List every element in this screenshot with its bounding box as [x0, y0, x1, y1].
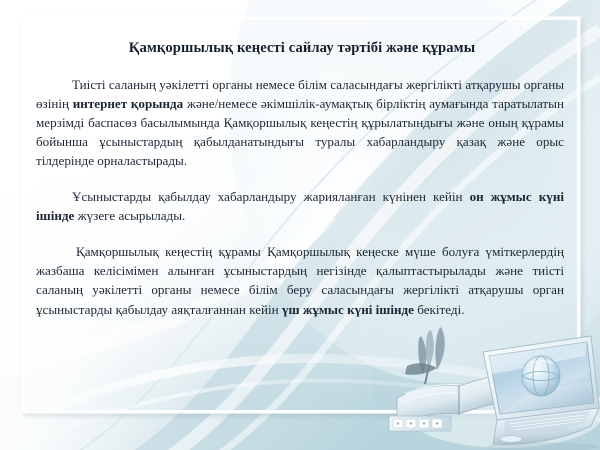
- emphasis-text: үш жұмыс күні ішінде: [282, 302, 414, 317]
- body-paragraph-1: Тиісті саланың уәкілетті органы немесе б…: [34, 75, 570, 171]
- slide-content: Қамқоршылық кеңесті сайлау тәртібі және …: [34, 34, 570, 404]
- page-title: Қамқоршылық кеңесті сайлау тәртібі және …: [34, 40, 570, 58]
- emphasis-text: интернет қорында: [73, 96, 183, 111]
- body-paragraph-3: Қамқоршылық кеңестің құрамы Қамқоршылық …: [34, 242, 570, 318]
- body-paragraph-2: Ұсыныстарды қабылдау хабарландыру жариял…: [34, 187, 570, 225]
- slide-canvas: Қамқоршылық кеңесті сайлау тәртібі және …: [0, 0, 600, 450]
